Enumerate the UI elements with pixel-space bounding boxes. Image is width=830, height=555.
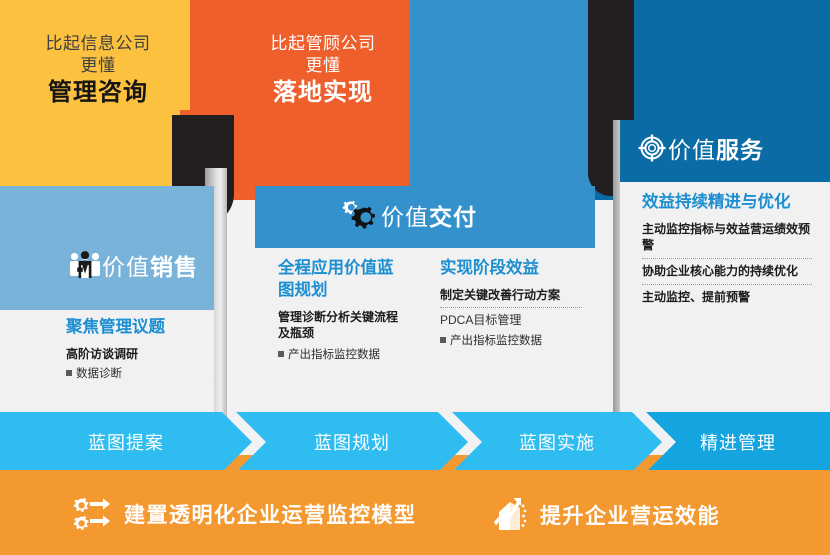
panel-title-service-text: 价值服务 — [668, 131, 764, 165]
dark-pin-left-stem — [172, 115, 234, 175]
gears-icon — [337, 197, 381, 233]
panel-title-delivery-text: 价值交付 — [381, 198, 477, 232]
delivery-col2-item-1: 制定关键改善行动方案 — [440, 287, 582, 304]
panel-title-delivery: 价值交付 — [337, 197, 477, 233]
top-right-sub2: 更懂 — [192, 55, 454, 77]
service-col1-divider-2 — [642, 284, 812, 285]
delivery-column-2: 实现阶段效益 制定关键改善行动方案 PDCA目标管理 产出指标监控数据 — [440, 258, 582, 350]
top-left-main: 管理咨询 — [10, 78, 186, 109]
service-col1-item-1: 主动监控指标与效益营运绩效预警 — [642, 221, 812, 254]
delivery-col2-divider-1 — [440, 307, 582, 308]
footer-item-1: 建置透明化企业运营监控模型 — [72, 496, 417, 532]
stage-bar: 蓝图提案 蓝图规划 蓝图实施 精进管理 — [0, 412, 830, 472]
delivery-col2-item-3: 产出指标监控数据 — [440, 334, 582, 350]
delivery-col1-item-2: 产出指标监控数据 — [278, 348, 406, 364]
stage-label-3: 蓝图实施 — [452, 412, 662, 472]
top-left-sub1: 比起信息公司 — [10, 33, 186, 55]
stage-chevron-1[interactable]: 蓝图提案 — [0, 412, 252, 472]
top-right-sub1: 比起管顾公司 — [192, 33, 454, 55]
stage-label-4: 精进管理 — [646, 412, 830, 472]
panel-title-service: 价值服务 — [636, 131, 764, 165]
stage-chevron-4[interactable]: 精进管理 — [646, 412, 830, 472]
service-col1-heading: 效益持续精进与优化 — [642, 192, 812, 214]
people-group-icon — [68, 250, 102, 280]
service-col1-divider-1 — [642, 258, 812, 259]
sales-col1-item-2: 数据诊断 — [66, 367, 196, 383]
panel-title-sales-text: 价值销售 — [102, 248, 198, 282]
footer-label-2: 提升企业营运效能 — [540, 500, 720, 530]
service-col1-item-3: 主动监控、提前预警 — [642, 289, 812, 306]
delivery-col1-heading: 全程应用价值蓝图规划 — [278, 258, 406, 302]
panel-title-sales: 价值销售 — [68, 248, 198, 282]
delivery-column-1: 全程应用价值蓝图规划 管理诊断分析关键流程及瓶颈 产出指标监控数据 — [278, 258, 406, 364]
delivery-col2-heading: 实现阶段效益 — [440, 258, 582, 280]
stage-label-1: 蓝图提案 — [0, 412, 252, 472]
target-radar-icon — [636, 132, 668, 164]
stage-chevron-3[interactable]: 蓝图实施 — [452, 412, 662, 472]
top-left-sub2: 更懂 — [10, 55, 186, 77]
gears-arrows-icon — [72, 496, 114, 532]
top-right-text-group: 比起管顾公司 更懂 落地实现 — [192, 33, 454, 108]
footer-item-2: 提升企业营运效能 — [490, 496, 720, 534]
sales-col1-item-1: 高阶访谈调研 — [66, 346, 196, 363]
sales-col1-heading: 聚焦管理议题 — [66, 317, 196, 339]
infographic-canvas: 比起信息公司 更懂 管理咨询 比起管顾公司 更懂 落地实现 — [0, 0, 830, 555]
top-left-text-group: 比起信息公司 更懂 管理咨询 — [10, 33, 186, 108]
stage-chevron-2[interactable]: 蓝图规划 — [236, 412, 468, 472]
footer-label-1: 建置透明化企业运营监控模型 — [124, 499, 417, 529]
service-col1-item-2: 协助企业核心能力的持续优化 — [642, 263, 812, 280]
sales-column-1: 聚焦管理议题 高阶访谈调研 数据诊断 — [66, 317, 196, 383]
top-right-main: 落地实现 — [192, 78, 454, 109]
delivery-col2-item-2: PDCA目标管理 — [440, 312, 582, 329]
growth-chart-icon — [490, 496, 530, 534]
service-column-1: 效益持续精进与优化 主动监控指标与效益营运绩效预警 协助企业核心能力的持续优化 … — [642, 192, 812, 305]
stage-label-2: 蓝图规划 — [236, 412, 468, 472]
delivery-col1-item-1: 管理诊断分析关键流程及瓶颈 — [278, 309, 406, 342]
